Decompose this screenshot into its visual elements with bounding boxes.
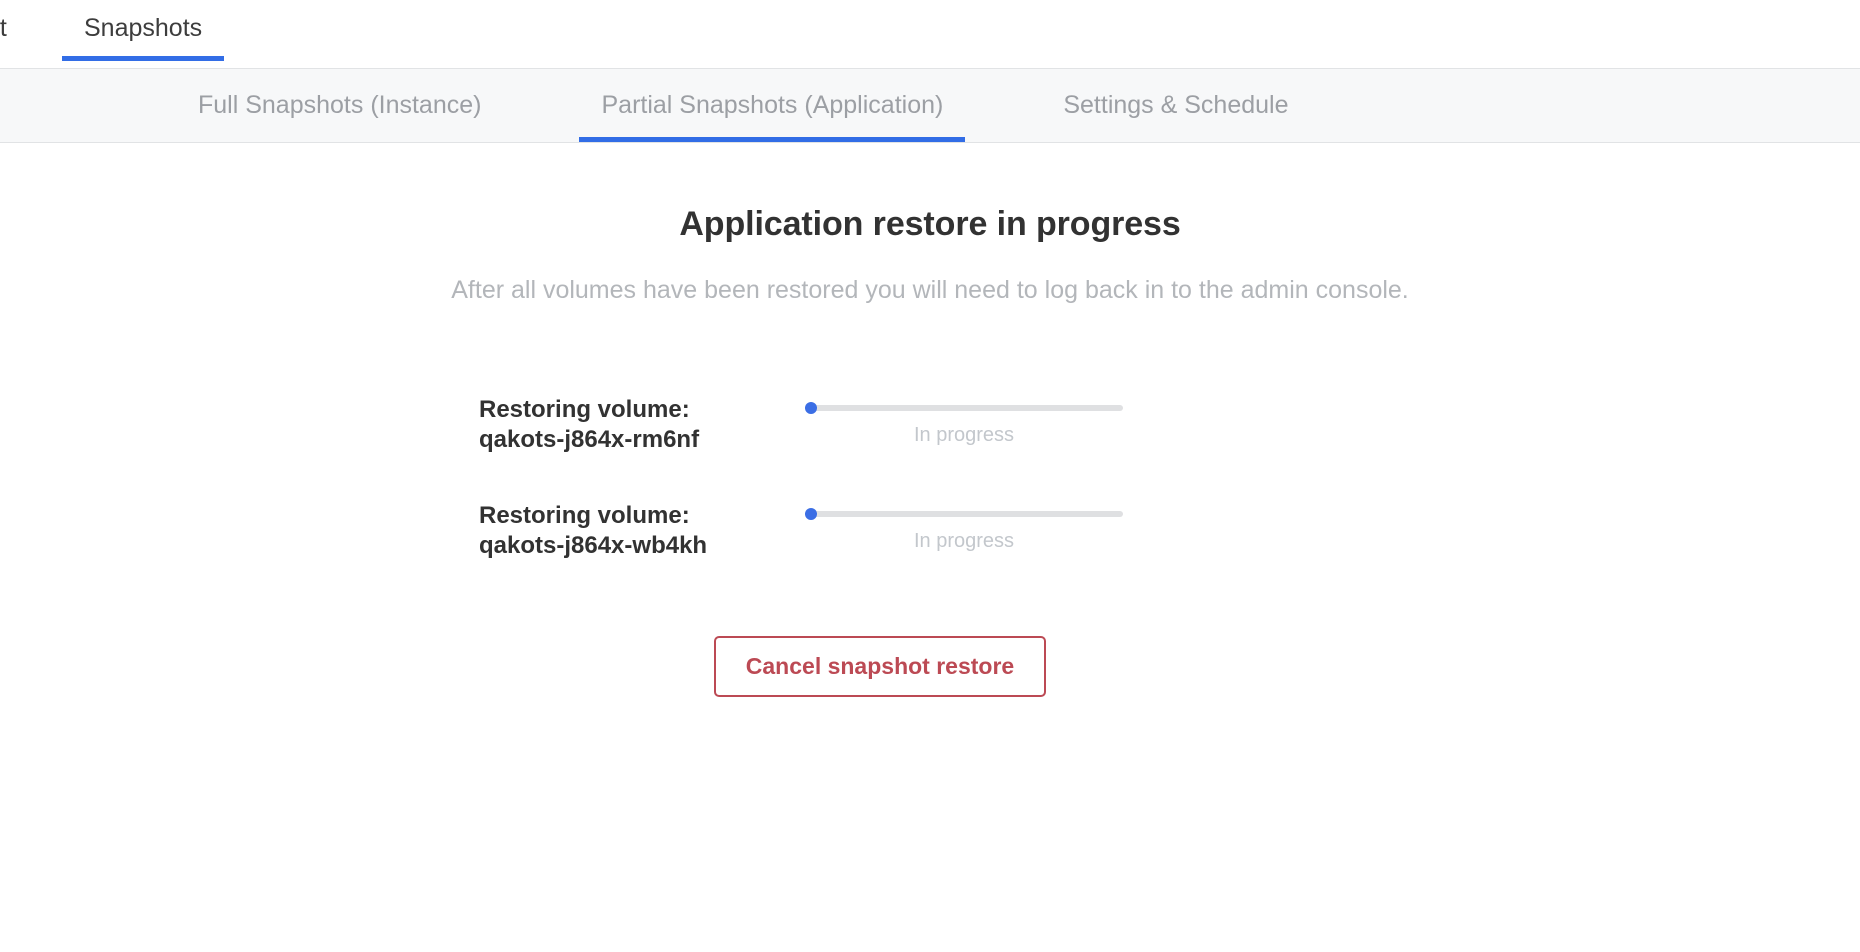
tab-full-snapshots-label: Full Snapshots (Instance) — [198, 91, 481, 120]
volume-row: Restoring volume: qakots-j864x-wb4kh In … — [479, 495, 1135, 561]
page-subtitle: After all volumes have been restored you… — [0, 244, 1860, 305]
volume-label-prefix: Restoring volume: — [479, 502, 690, 529]
progress-bar-track — [805, 511, 1123, 517]
volume-name: qakots-j864x-wb4kh — [479, 531, 799, 561]
nav-item-truncated[interactable]: nt — [0, 0, 22, 50]
sub-tab-bar: Full Snapshots (Instance) Partial Snapsh… — [0, 68, 1860, 143]
tab-partial-snapshots[interactable]: Partial Snapshots (Application) — [601, 69, 943, 142]
progress-bar-indicator — [805, 508, 817, 520]
page-title: Application restore in progress — [0, 143, 1860, 244]
volume-progress: In progress — [799, 389, 1135, 447]
volume-progress: In progress — [799, 495, 1135, 553]
nav-item-snapshots-label: Snapshots — [84, 14, 202, 42]
progress-status-text: In progress — [805, 411, 1123, 447]
restore-progress-panel: Application restore in progress After al… — [0, 143, 1860, 697]
volume-label-prefix: Restoring volume: — [479, 396, 690, 423]
volume-label: Restoring volume: qakots-j864x-rm6nf — [479, 389, 799, 455]
action-area: Cancel snapshot restore — [0, 636, 1860, 697]
tab-partial-snapshots-label: Partial Snapshots (Application) — [601, 91, 943, 120]
volume-name: qakots-j864x-rm6nf — [479, 425, 799, 455]
tab-settings-schedule-label: Settings & Schedule — [1063, 91, 1288, 120]
nav-active-underline — [62, 56, 224, 61]
progress-bar-indicator — [805, 402, 817, 414]
nav-item-truncated-label: nt — [0, 14, 7, 42]
primary-nav: nt Snapshots — [0, 0, 1860, 68]
volume-progress-list: Restoring volume: qakots-j864x-rm6nf In … — [0, 389, 1860, 601]
tab-settings-schedule[interactable]: Settings & Schedule — [1063, 69, 1288, 142]
nav-item-snapshots[interactable]: Snapshots — [62, 0, 224, 50]
volume-label: Restoring volume: qakots-j864x-wb4kh — [479, 495, 799, 561]
progress-bar-track — [805, 405, 1123, 411]
tab-active-underline — [579, 137, 965, 142]
tab-full-snapshots[interactable]: Full Snapshots (Instance) — [198, 69, 481, 142]
volume-row: Restoring volume: qakots-j864x-rm6nf In … — [479, 389, 1135, 455]
progress-status-text: In progress — [805, 517, 1123, 553]
cancel-snapshot-restore-button[interactable]: Cancel snapshot restore — [714, 636, 1046, 697]
